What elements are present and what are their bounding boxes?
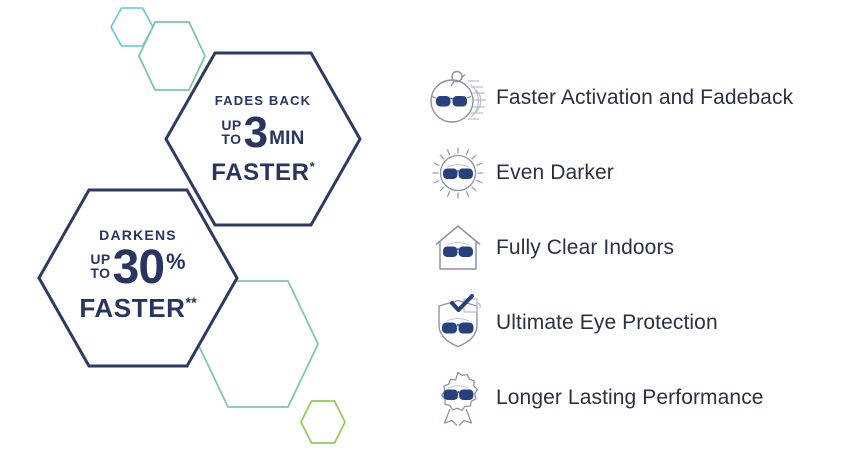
darkens-value: 30 [113, 248, 164, 287]
feature-label: Ultimate Eye Protection [496, 311, 718, 335]
fades-back-value-row: UP TO 3 MIN [163, 115, 363, 151]
darkens-bottom-label: FASTER** [36, 295, 240, 321]
small-green-hexagon [300, 399, 346, 445]
feature-label: Fully Clear Indoors [496, 236, 674, 260]
sun-sunglasses-icon [420, 142, 496, 204]
fades-back-bottom-label: FASTER* [163, 160, 363, 185]
darkens-upto: UP TO [90, 252, 110, 280]
fades-back-asterisk: * [310, 159, 315, 174]
darkens-up: UP [90, 252, 110, 266]
house-sunglasses-icon [420, 217, 496, 279]
fades-back-badge: FADES BACK UP TO 3 MIN FASTER* [163, 94, 363, 185]
fades-back-up: UP [221, 118, 241, 132]
feature-label: Longer Lasting Performance [496, 386, 764, 410]
darkens-unit: % [166, 248, 186, 273]
feature-list: Faster Activation and Fadeback [420, 60, 850, 435]
feature-row: Even Darker [420, 135, 850, 210]
fades-back-to: TO [221, 132, 241, 146]
darkens-value-row: UP TO 30 % [36, 248, 240, 287]
darkens-bottom-text: FASTER [79, 293, 185, 323]
darkens-badge: DARKENS UP TO 30 % FASTER** [36, 228, 240, 321]
feature-row: Fully Clear Indoors [420, 210, 850, 285]
feature-row: Ultimate Eye Protection [420, 285, 850, 360]
fades-back-bottom-text: FASTER [211, 159, 309, 186]
stopwatch-sunglasses-icon [420, 67, 496, 129]
shield-check-sunglasses-icon [420, 292, 496, 354]
infographic-canvas: FADES BACK UP TO 3 MIN FASTER* DARKENS U… [0, 0, 865, 452]
fades-back-top-label: FADES BACK [163, 94, 363, 107]
feature-label: Faster Activation and Fadeback [496, 86, 793, 110]
feature-label: Even Darker [496, 161, 614, 185]
darkens-asterisk: ** [186, 296, 197, 312]
feature-row: Longer Lasting Performance [420, 360, 850, 435]
feature-row: Faster Activation and Fadeback [420, 60, 850, 135]
darkens-to: TO [90, 266, 110, 280]
darkens-top-label: DARKENS [36, 228, 240, 242]
fades-back-unit: MIN [269, 129, 304, 151]
award-ribbon-sunglasses-icon [420, 367, 496, 429]
fades-back-value: 3 [244, 115, 267, 151]
fades-back-upto: UP TO [221, 118, 241, 146]
